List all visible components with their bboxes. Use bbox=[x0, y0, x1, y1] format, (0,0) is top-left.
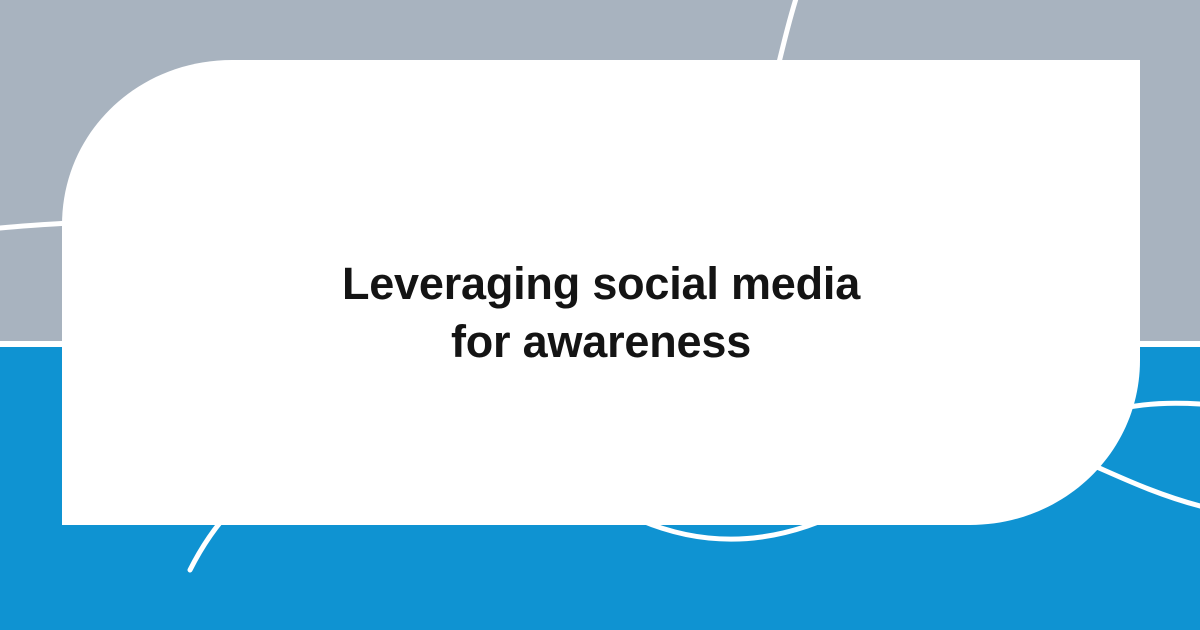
banner-canvas: Leveraging social media for awareness bbox=[0, 0, 1200, 630]
white-content-card bbox=[62, 60, 1140, 525]
background-graphic bbox=[0, 0, 1200, 630]
